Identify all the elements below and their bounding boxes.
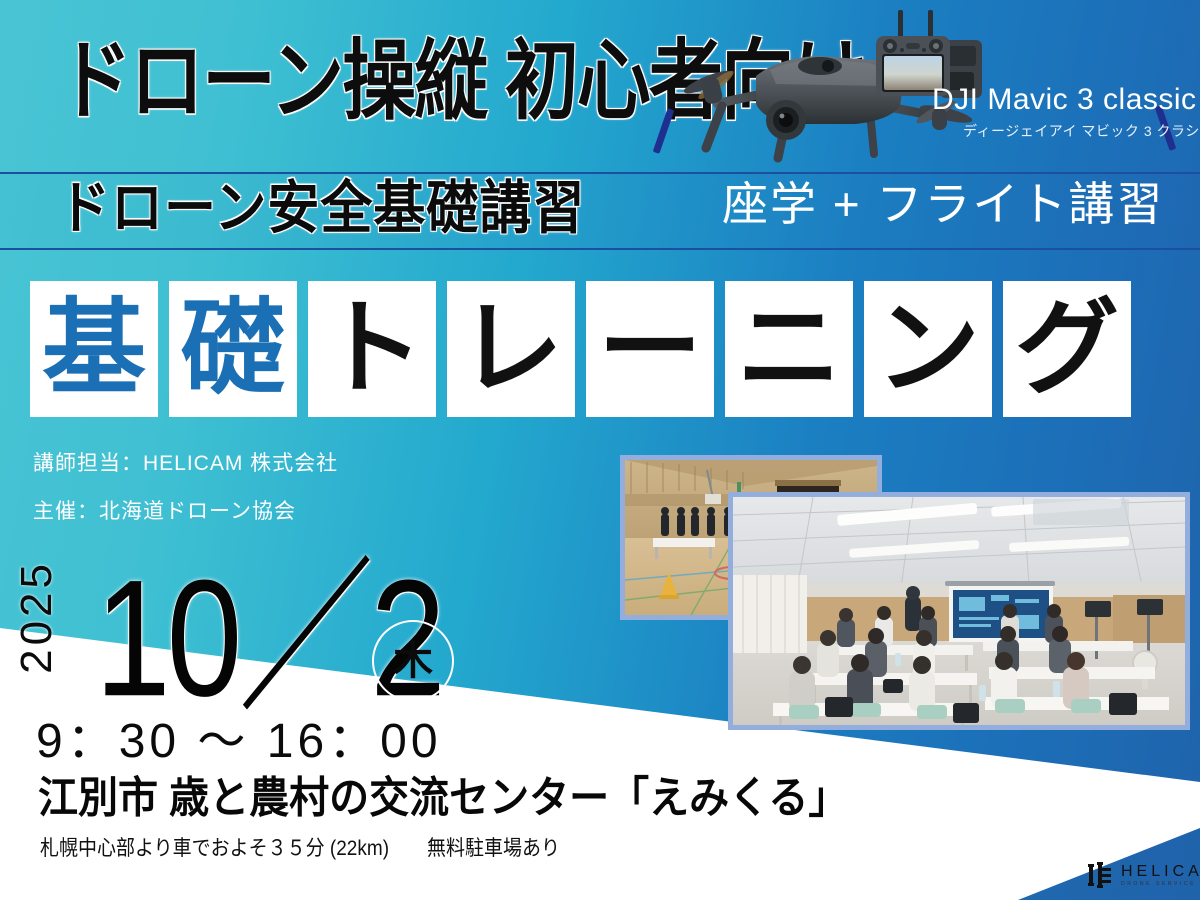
venue-access: 札幌中心部より車でおよそ３５分 (22km) 無料駐車場あり	[40, 838, 560, 859]
boxed-title-cell: 基	[30, 281, 158, 417]
boxed-title-cell: 礎	[169, 281, 297, 417]
event-weekday-badge: 木	[372, 620, 454, 702]
logo-name: HELICAM	[1121, 864, 1200, 880]
poster-canvas: ドローン操縦 初心者向け	[0, 0, 1200, 900]
boxed-title-cell: ン	[864, 281, 992, 417]
boxed-title-cell: ト	[308, 281, 436, 417]
boxed-title-cell: ニ	[725, 281, 853, 417]
boxed-title-cell: グ	[1003, 281, 1131, 417]
venue-name: 江別市 歳と農村の交流センター「えみくる」	[38, 777, 848, 820]
helicam-logo: HELICAM DRONE SERVICE	[1088, 862, 1200, 888]
course-format: 座学 + フライト講習	[722, 181, 1164, 227]
boxed-title-cell: ー	[586, 281, 714, 417]
boxed-title-row: 基礎トレーニング	[30, 281, 1131, 417]
helicam-mark-icon	[1088, 862, 1114, 888]
equipment-label: DJI Mavic 3 classic 使用	[932, 85, 1200, 115]
logo-tagline: DRONE SERVICE	[1121, 882, 1200, 887]
event-year: 2025	[15, 560, 59, 674]
event-time: 9：30 ～ 16：00	[36, 718, 442, 766]
photo-classroom	[728, 492, 1190, 730]
equipment-reading: ディージェイアイ マビック 3 クラシック	[963, 124, 1200, 138]
course-title: ドローン安全基礎講習	[58, 180, 585, 237]
instructor-credit: 講師担当：HELICAM 株式会社	[33, 453, 338, 474]
boxed-title-cell: レ	[447, 281, 575, 417]
organizer-credit: 主催：北海道ドローン協会	[33, 501, 296, 522]
